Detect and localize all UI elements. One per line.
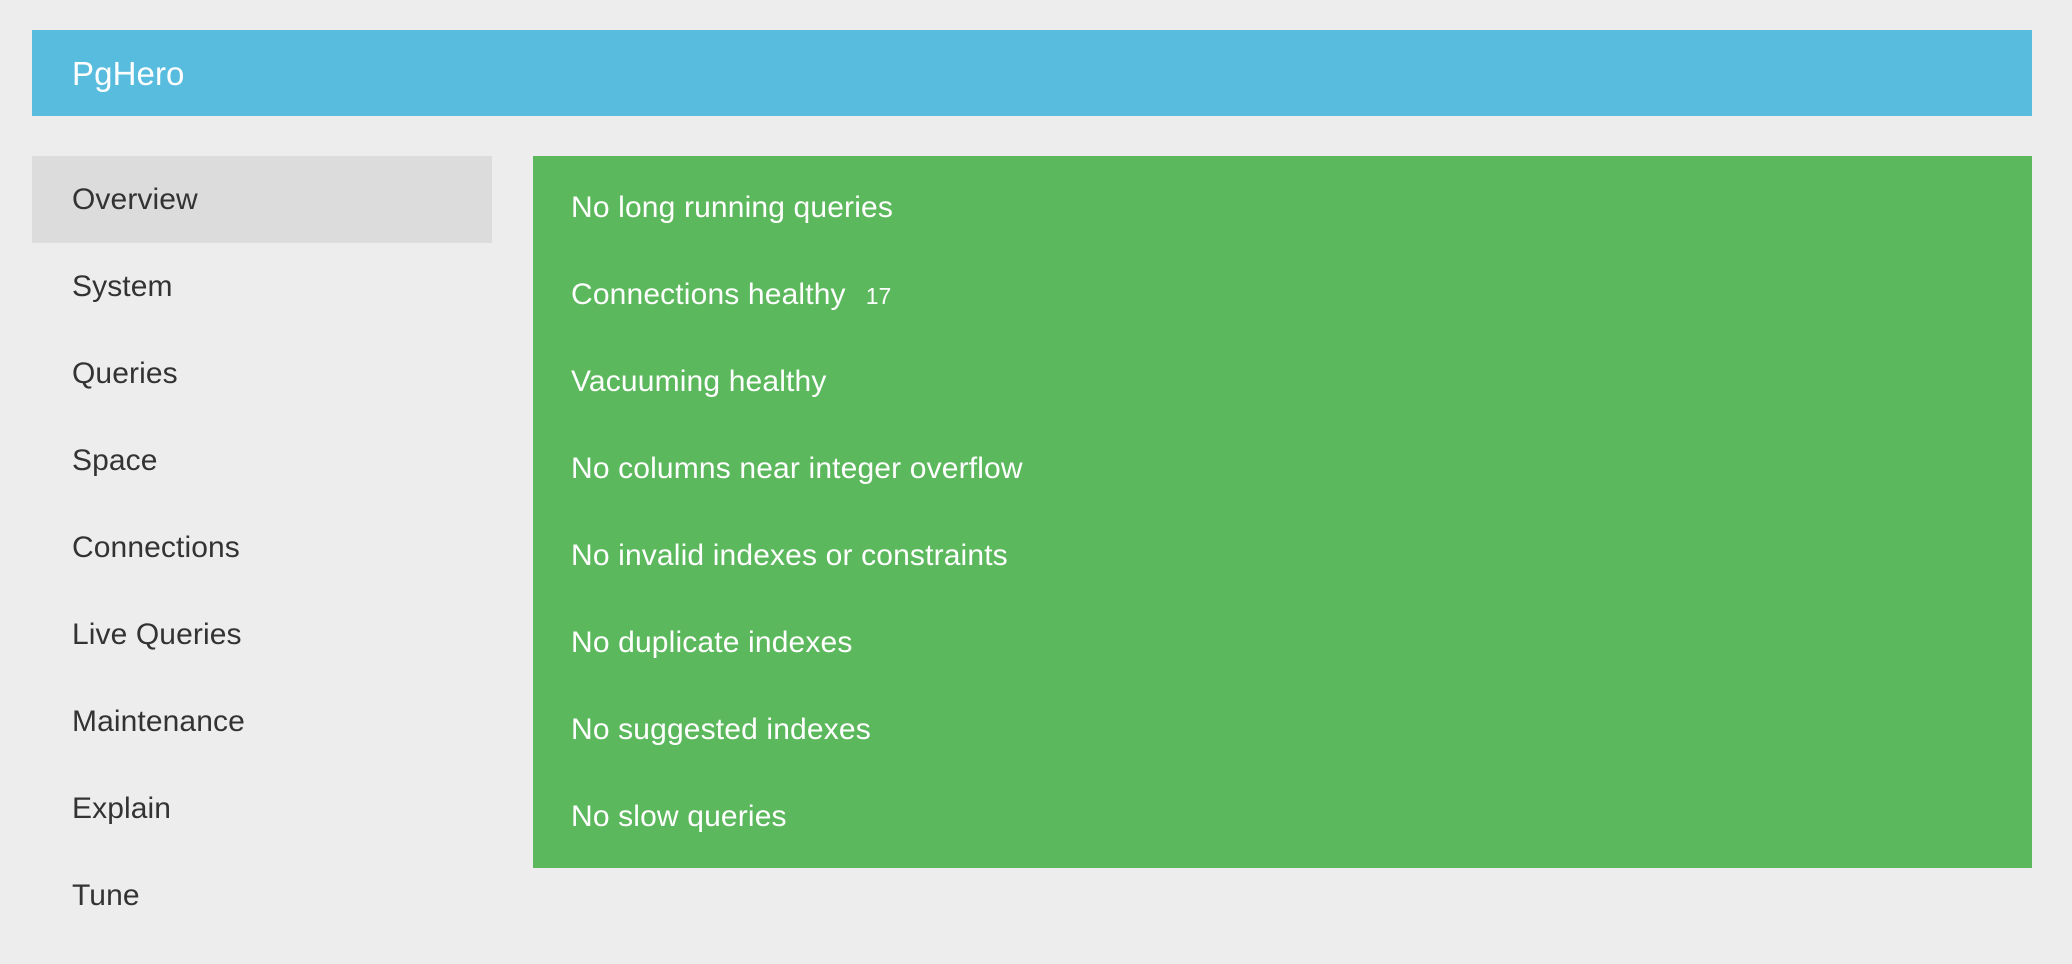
- status-item-count: 17: [866, 253, 892, 340]
- sidebar-item-space[interactable]: Space: [32, 417, 492, 504]
- status-list-item[interactable]: No suggested indexes: [533, 686, 2032, 773]
- status-list: No long running queriesConnections healt…: [533, 164, 2032, 860]
- sidebar-item-maintenance[interactable]: Maintenance: [32, 678, 492, 765]
- sidebar-item-explain[interactable]: Explain: [32, 765, 492, 852]
- sidebar-item-label[interactable]: Live Queries: [32, 591, 492, 678]
- status-item-label: No suggested indexes: [571, 686, 871, 773]
- status-panel: No long running queriesConnections healt…: [533, 156, 2032, 868]
- sidebar-item-queries[interactable]: Queries: [32, 330, 492, 417]
- status-item-label: Connections healthy: [571, 251, 846, 338]
- pghero-overview-page: PgHero OverviewSystemQueriesSpaceConnect…: [0, 0, 2072, 964]
- top-navbar: PgHero: [32, 30, 2032, 116]
- sidebar-item-label[interactable]: Queries: [32, 330, 492, 417]
- status-list-item[interactable]: Connections healthy17: [533, 251, 2032, 338]
- sidebar-item-live-queries[interactable]: Live Queries: [32, 591, 492, 678]
- status-list-item[interactable]: No slow queries: [533, 773, 2032, 860]
- sidebar-item-overview[interactable]: Overview: [32, 156, 492, 243]
- sidebar-item-system[interactable]: System: [32, 243, 492, 330]
- sidebar-item-label[interactable]: System: [32, 243, 492, 330]
- sidebar-item-label[interactable]: Space: [32, 417, 492, 504]
- status-list-item[interactable]: No duplicate indexes: [533, 599, 2032, 686]
- page-content: OverviewSystemQueriesSpaceConnectionsLiv…: [0, 156, 2072, 964]
- brand-link[interactable]: PgHero: [72, 57, 185, 90]
- status-list-item[interactable]: No long running queries: [533, 164, 2032, 251]
- sidebar-item-label[interactable]: Overview: [32, 156, 492, 243]
- sidebar-item-label[interactable]: Explain: [32, 765, 492, 852]
- status-list-item[interactable]: No invalid indexes or constraints: [533, 512, 2032, 599]
- status-item-label: No duplicate indexes: [571, 599, 853, 686]
- sidebar-item-connections[interactable]: Connections: [32, 504, 492, 591]
- sidebar-nav: OverviewSystemQueriesSpaceConnectionsLiv…: [32, 156, 492, 939]
- status-item-label: No columns near integer overflow: [571, 425, 1023, 512]
- sidebar-item-label[interactable]: Tune: [32, 852, 492, 939]
- status-item-label: No slow queries: [571, 773, 787, 860]
- sidebar-item-label[interactable]: Maintenance: [32, 678, 492, 765]
- status-list-item[interactable]: Vacuuming healthy: [533, 338, 2032, 425]
- sidebar-item-tune[interactable]: Tune: [32, 852, 492, 939]
- sidebar-item-label[interactable]: Connections: [32, 504, 492, 591]
- status-item-label: No invalid indexes or constraints: [571, 512, 1008, 599]
- status-item-label: No long running queries: [571, 164, 893, 251]
- status-list-item[interactable]: No columns near integer overflow: [533, 425, 2032, 512]
- status-item-label: Vacuuming healthy: [571, 338, 827, 425]
